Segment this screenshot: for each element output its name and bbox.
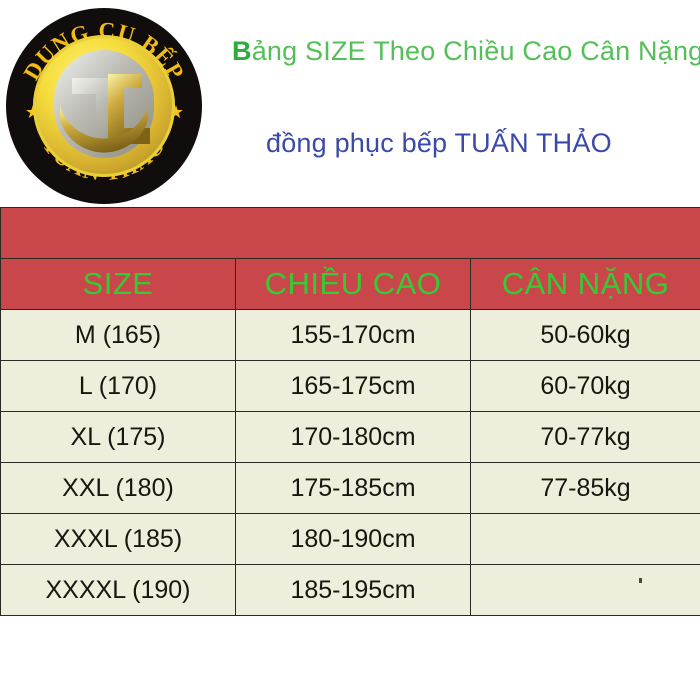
logo-tl-monogram-icon <box>46 48 162 164</box>
cell-height: 180-190cm <box>236 514 471 565</box>
scan-artifact-dot <box>639 578 642 583</box>
cell-size: XXL (180) <box>1 463 236 514</box>
header-banner: DỤNG CỤ BẾP TUẤN THẢO ★ ★ <box>0 0 700 207</box>
table-row: XXL (180) 175-185cm 77-85kg <box>1 463 700 514</box>
cell-size: XXXL (185) <box>1 514 236 565</box>
table-row: XXXL (185) 180-190cm <box>1 514 700 565</box>
cell-height: 185-195cm <box>236 565 471 616</box>
page-title: Bảng SIZE Theo Chiều Cao Cân Nặng <box>232 36 700 67</box>
cell-size: L (170) <box>1 361 236 412</box>
column-header-weight: CÂN NẶNG <box>471 259 700 310</box>
column-header-size: SIZE <box>1 259 236 310</box>
cell-height: 170-180cm <box>236 412 471 463</box>
cell-size: M (165) <box>1 310 236 361</box>
cell-weight: 50-60kg <box>471 310 700 361</box>
cell-size: XXXXL (190) <box>1 565 236 616</box>
cell-size: XL (175) <box>1 412 236 463</box>
brand-logo: DỤNG CỤ BẾP TUẤN THẢO ★ ★ <box>6 8 202 204</box>
table-row: L (170) 165-175cm 60-70kg <box>1 361 700 412</box>
cell-height: 165-175cm <box>236 361 471 412</box>
cell-height: 175-185cm <box>236 463 471 514</box>
page-title-rest: ảng SIZE Theo Chiều Cao Cân Nặng <box>252 36 700 66</box>
cell-weight: 70-77kg <box>471 412 700 463</box>
table-header-row: SIZE CHIỀU CAO CÂN NẶNG <box>1 259 700 310</box>
cell-weight <box>471 565 700 616</box>
table-top-band-cell <box>1 208 700 259</box>
cell-weight <box>471 514 700 565</box>
page-subtitle: đồng phục bếp TUẤN THẢO <box>266 128 612 159</box>
table-row: M (165) 155-170cm 50-60kg <box>1 310 700 361</box>
table-row: XXXXL (190) 185-195cm <box>1 565 700 616</box>
column-header-height: CHIỀU CAO <box>236 259 471 310</box>
table-top-band <box>1 208 700 259</box>
cell-height: 155-170cm <box>236 310 471 361</box>
cell-weight: 60-70kg <box>471 361 700 412</box>
page-title-lead: B <box>232 36 252 66</box>
cell-weight: 77-85kg <box>471 463 700 514</box>
size-chart-table: SIZE CHIỀU CAO CÂN NẶNG M (165) 155-170c… <box>0 207 700 616</box>
table-row: XL (175) 170-180cm 70-77kg <box>1 412 700 463</box>
